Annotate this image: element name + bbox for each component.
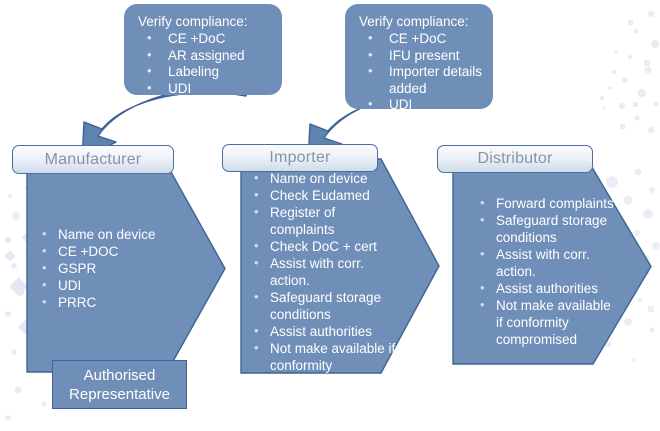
list-item: PRRC — [36, 294, 186, 311]
list-item-cont: conditions — [474, 229, 634, 246]
list-item: Check Eudamed — [248, 187, 408, 204]
list-item: Assist authorities — [248, 323, 408, 340]
header-manufacturer-label: Manufacturer — [45, 151, 142, 169]
list-item: Not make available if — [248, 340, 408, 357]
list-item: Name on device — [248, 170, 408, 187]
list-item: CE +DOC — [36, 243, 186, 260]
callout-item: UDI — [359, 97, 483, 114]
authorised-representative-line1: Authorised — [84, 366, 156, 385]
callout-item: UDI — [138, 81, 272, 98]
list-item: Safeguard storage — [248, 289, 408, 306]
chevron-distributor-content: Forward complaints Safeguard storage con… — [474, 195, 634, 348]
list-item-cont: compromised — [474, 331, 634, 348]
list-item: Assist with corr. — [474, 246, 634, 263]
list-item: Check DoC + cert — [248, 238, 408, 255]
header-distributor-label: Distributor — [477, 150, 552, 168]
distributor-list: Forward complaints Safeguard storage con… — [474, 195, 634, 348]
callout-title: Verify compliance: — [138, 13, 272, 30]
callout-item: Labeling — [138, 64, 272, 81]
list-item: Forward complaints — [474, 195, 634, 212]
callout-list: CE +DoC AR assigned Labeling UDI — [138, 31, 272, 97]
callout-list: CE +DoC IFU present Importer details add… — [359, 31, 483, 114]
callout-item: AR assigned — [138, 48, 272, 65]
list-item-cont: conditions — [248, 306, 408, 323]
list-item: UDI — [36, 277, 186, 294]
list-item-cont: conformity — [248, 357, 408, 374]
chevron-importer-content: Name on device Check Eudamed Register of… — [248, 170, 408, 391]
list-item: GSPR — [36, 260, 186, 277]
callout-item: IFU present — [359, 48, 483, 65]
callout-item: CE +DoC — [138, 31, 272, 48]
callout-item-cont: added — [359, 81, 483, 98]
list-item-cont: if conformity — [474, 314, 634, 331]
callout-item: Importer details — [359, 64, 483, 81]
header-importer-label: Importer — [269, 149, 330, 167]
chevron-manufacturer-content: Name on device CE +DOC GSPR UDI PRRC — [36, 226, 186, 311]
callout-item: CE +DoC — [359, 31, 483, 48]
list-item: Safeguard storage — [474, 212, 634, 229]
list-item-cont: compromised — [248, 374, 408, 391]
manufacturer-list: Name on device CE +DOC GSPR UDI PRRC — [36, 226, 186, 311]
authorised-representative-line2: Representative — [69, 385, 170, 404]
list-item-cont: complaints — [248, 221, 408, 238]
header-importer[interactable]: Importer — [222, 144, 378, 172]
header-manufacturer[interactable]: Manufacturer — [12, 145, 174, 174]
list-item: Not make available — [474, 297, 634, 314]
list-item-cont: action. — [248, 272, 408, 289]
importer-list: Name on device Check Eudamed Register of… — [248, 170, 408, 391]
callout-verify-compliance-manufacturer: Verify compliance: CE +DoC AR assigned L… — [124, 4, 282, 95]
callout-verify-compliance-importer: Verify compliance: CE +DoC IFU present I… — [345, 4, 493, 109]
chevron-distributor: Forward complaints Safeguard storage con… — [452, 168, 652, 365]
callout-title: Verify compliance: — [359, 13, 483, 30]
list-item: Assist with corr. — [248, 255, 408, 272]
list-item-cont: action. — [474, 263, 634, 280]
authorised-representative-box[interactable]: Authorised Representative — [52, 360, 187, 409]
list-item: Assist authorities — [474, 280, 634, 297]
header-distributor[interactable]: Distributor — [437, 145, 593, 173]
chevron-importer: Name on device Check Eudamed Register of… — [240, 158, 440, 374]
diagram-canvas: Verify compliance: CE +DoC AR assigned L… — [0, 0, 660, 431]
chevron-manufacturer: Name on device CE +DOC GSPR UDI PRRC — [26, 164, 226, 373]
list-item: Name on device — [36, 226, 186, 243]
list-item: Register of — [248, 204, 408, 221]
